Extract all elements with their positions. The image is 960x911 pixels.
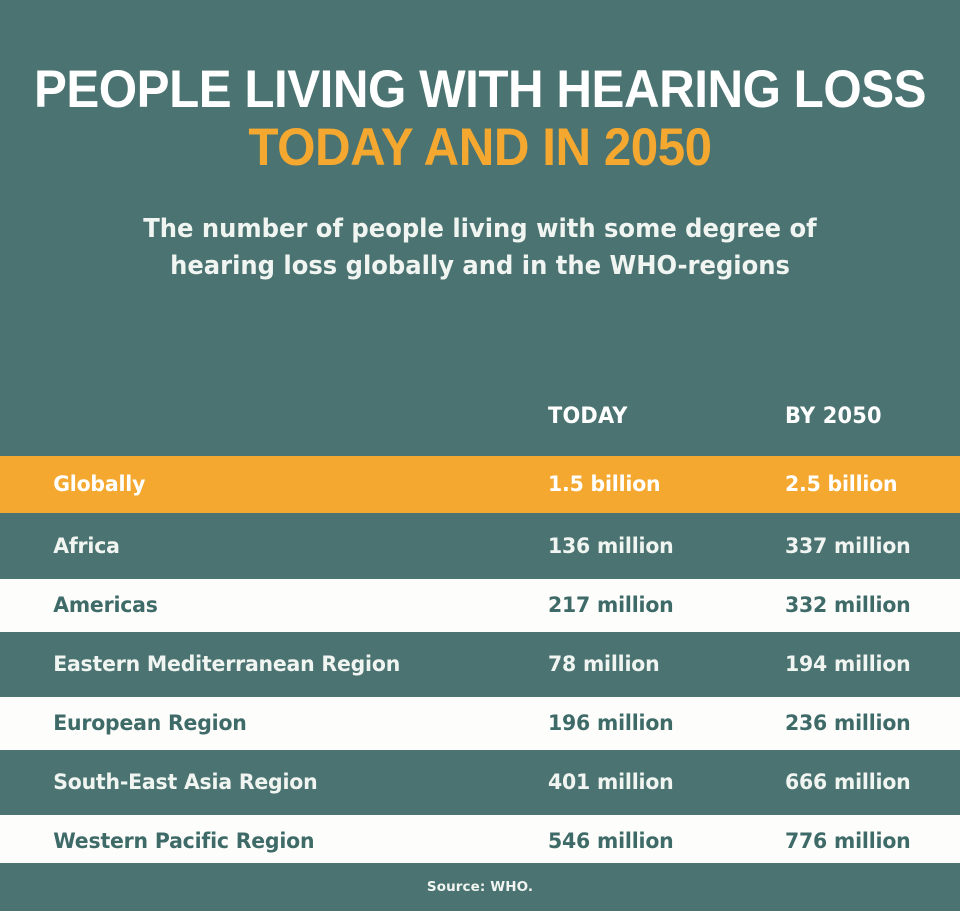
row-future-globally: 2.5 billion xyxy=(785,472,951,497)
footer: Source: WHO. xyxy=(0,863,960,911)
row-today-european-region: 196 million xyxy=(548,711,773,736)
row-today-globally: 1.5 billion xyxy=(548,472,773,497)
row-label-globally: Globally xyxy=(0,472,521,497)
row-label-western-pacific-region: Western Pacific Region xyxy=(0,829,521,854)
table-row: Globally 1.5 billion 2.5 billion xyxy=(0,456,960,513)
row-today-eastern-mediterranean-region: 78 million xyxy=(548,652,773,677)
column-header-today: TODAY xyxy=(548,404,773,429)
table-row: South-East Asia Region 401 million 666 m… xyxy=(0,756,960,809)
table-row: Western Pacific Region 546 million 776 m… xyxy=(0,815,960,868)
table-row: Americas 217 million 332 million xyxy=(0,579,960,632)
row-today-south-east-asia-region: 401 million xyxy=(548,770,773,795)
source-attribution: Source: WHO. xyxy=(427,879,533,895)
subtitle-line-1: The number of people living with some de… xyxy=(24,211,936,248)
row-future-africa: 337 million xyxy=(785,534,951,559)
subtitle-line-2: hearing loss globally and in the WHO-reg… xyxy=(24,248,936,285)
row-future-european-region: 236 million xyxy=(785,711,951,736)
table-row: European Region 196 million 236 million xyxy=(0,697,960,750)
table-header-row: TODAY BY 2050 xyxy=(0,383,960,450)
header-block: PEOPLE LIVING WITH HEARING LOSS TODAY AN… xyxy=(0,0,960,285)
row-label-eastern-mediterranean-region: Eastern Mediterranean Region xyxy=(0,652,521,677)
page-title-secondary: TODAY AND IN 2050 xyxy=(34,118,927,177)
row-label-africa: Africa xyxy=(0,534,521,559)
page-title-primary: PEOPLE LIVING WITH HEARING LOSS xyxy=(34,62,927,118)
table-row: Eastern Mediterranean Region 78 million … xyxy=(0,638,960,691)
table-row: Africa 136 million 337 million xyxy=(0,520,960,573)
row-label-south-east-asia-region: South-East Asia Region xyxy=(0,770,521,795)
row-future-south-east-asia-region: 666 million xyxy=(785,770,951,795)
row-future-western-pacific-region: 776 million xyxy=(785,829,951,854)
row-label-americas: Americas xyxy=(0,593,521,618)
row-today-americas: 217 million xyxy=(548,593,773,618)
page-subtitle: The number of people living with some de… xyxy=(24,211,936,285)
hearing-loss-table: TODAY BY 2050 Globally 1.5 billion 2.5 b… xyxy=(0,383,960,868)
row-future-eastern-mediterranean-region: 194 million xyxy=(785,652,951,677)
row-today-western-pacific-region: 546 million xyxy=(548,829,773,854)
row-future-americas: 332 million xyxy=(785,593,951,618)
row-today-africa: 136 million xyxy=(548,534,773,559)
column-header-by-2050: BY 2050 xyxy=(785,404,951,429)
row-label-european-region: European Region xyxy=(0,711,521,736)
infographic-root: PEOPLE LIVING WITH HEARING LOSS TODAY AN… xyxy=(0,0,960,911)
